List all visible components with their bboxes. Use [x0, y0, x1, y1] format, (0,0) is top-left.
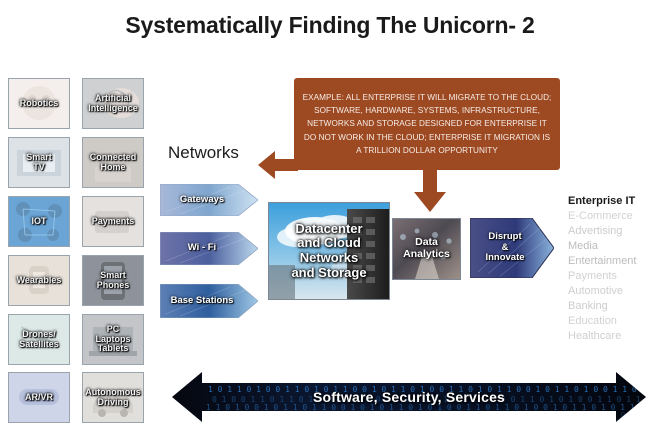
enterprise-it-item: Entertainment — [568, 254, 660, 269]
network-chevron-base-stations[interactable]: Base Stations — [160, 284, 258, 318]
callout-left-arrow-icon — [258, 149, 298, 181]
example-callout-text: EXAMPLE: ALL ENTERPRISE IT WILL MIGRATE … — [294, 91, 560, 157]
device-tile-pc-laptops-tablets[interactable]: PCLaptopsTablets — [82, 314, 144, 365]
tile-label: IOT — [30, 217, 49, 226]
device-tile-autonomous-driving[interactable]: AutonomousDriving — [82, 372, 144, 423]
enterprise-it-item: Media — [568, 239, 660, 254]
page-title: Systematically Finding The Unicorn- 2 — [0, 12, 660, 39]
device-tile-connected-home[interactable]: ConnectedHome — [82, 137, 144, 188]
datacenter-cloud-box: Datacenter and Cloud Networks and Storag… — [268, 202, 390, 300]
device-tile-payments[interactable]: Payments — [82, 196, 144, 247]
enterprise-it-item: Education — [568, 314, 660, 329]
device-tile-robotics[interactable]: Robotics — [8, 78, 70, 129]
enterprise-it-heading: Enterprise IT — [568, 194, 660, 209]
device-tile-iot[interactable]: IOT — [8, 196, 70, 247]
enterprise-it-item: Payments — [568, 269, 660, 284]
tile-label: ConnectedHome — [88, 153, 139, 172]
enterprise-it-item: Automotive — [568, 284, 660, 299]
network-chevron-gateways[interactable]: Gateways — [160, 184, 258, 216]
disrupt-line3: Innovate — [485, 253, 524, 263]
tile-label: SmartTV — [24, 153, 54, 172]
bottom-bar-label: Software, Security, Services — [172, 368, 646, 426]
enterprise-it-item: E-Commerce — [568, 209, 660, 224]
tile-label: Wearables — [15, 276, 64, 285]
tile-label: ArtificialIntelligence — [86, 94, 140, 113]
callout-down-arrow-icon — [412, 168, 448, 212]
device-tile-smart-phones[interactable]: SmartPhones — [82, 255, 144, 306]
enterprise-it-item: Advertising — [568, 224, 660, 239]
device-tile-smart-tv[interactable]: SmartTV — [8, 137, 70, 188]
device-tile-drones-satellites[interactable]: Drones/Satellites — [8, 314, 70, 365]
datacenter-label: Datacenter and Cloud Networks and Storag… — [269, 203, 389, 299]
enterprise-it-item: Healthcare — [568, 329, 660, 344]
data-analytics-label: Data Analytics — [393, 219, 460, 279]
tile-label: SmartPhones — [95, 271, 132, 290]
device-tile-ar-vr[interactable]: AR/VR — [8, 372, 70, 423]
tile-label: AR/VR — [23, 393, 55, 402]
datacenter-label-line3: Networks — [300, 251, 359, 266]
example-callout: EXAMPLE: ALL ENTERPRISE IT WILL MIGRATE … — [294, 78, 560, 170]
chevron-label: Wi - Fi — [160, 232, 258, 265]
device-tile-wearables[interactable]: Wearables — [8, 255, 70, 306]
enterprise-it-list: Enterprise IT E-CommerceAdvertisingMedia… — [568, 194, 660, 344]
enterprise-it-item: Banking — [568, 299, 660, 314]
network-chevron-wi-fi[interactable]: Wi - Fi — [160, 232, 258, 265]
data-analytics-box: Data Analytics — [392, 218, 461, 280]
device-tile-artificial-intelligence[interactable]: ArtificialIntelligence — [82, 78, 144, 129]
tile-label: Robotics — [18, 99, 61, 108]
tile-label: AutonomousDriving — [83, 388, 143, 407]
networks-heading: Networks — [168, 143, 239, 163]
disrupt-innovate-chevron: Disrupt & Innovate — [470, 218, 554, 278]
slide-canvas: Systematically Finding The Unicorn- 2 Ro… — [0, 0, 660, 426]
tile-label: PCLaptopsTablets — [94, 325, 133, 353]
datacenter-label-line2: and Cloud — [297, 236, 361, 251]
enterprise-it-items: E-CommerceAdvertisingMediaEntertainmentP… — [568, 209, 660, 344]
tile-label: Drones/Satellites — [17, 330, 61, 349]
tile-label: Payments — [90, 217, 137, 226]
chevron-label: Base Stations — [160, 284, 258, 318]
chevron-label: Gateways — [160, 184, 258, 216]
data-analytics-label-line2: Analytics — [403, 249, 450, 261]
datacenter-label-line4: and Storage — [291, 266, 366, 281]
disrupt-chevron-label: Disrupt & Innovate — [470, 218, 554, 278]
